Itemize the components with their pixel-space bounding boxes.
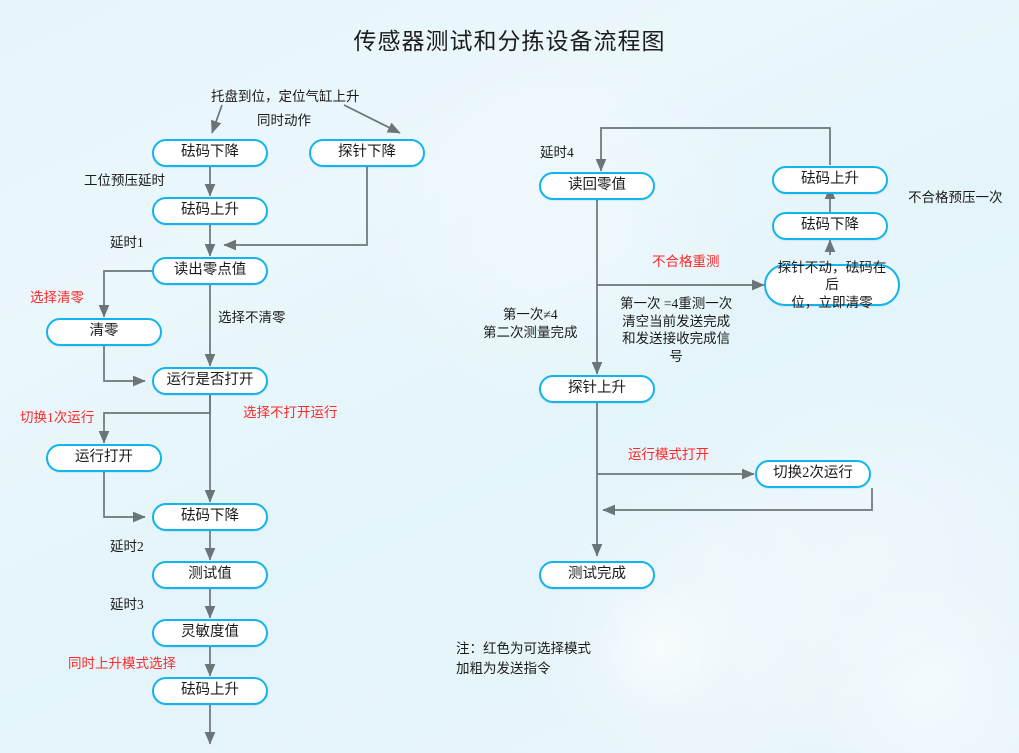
node-weight-down-3[interactable]: 砝码下降	[772, 212, 888, 240]
label-delay-4: 延时4	[540, 144, 574, 162]
label-delay-2: 延时2	[110, 538, 144, 556]
label-fail-preload-once: 不合格预压一次	[908, 189, 1003, 207]
node-test-complete[interactable]: 测试完成	[539, 561, 655, 589]
node-weight-up-2[interactable]: 砝码上升	[152, 677, 268, 705]
node-probe-up[interactable]: 探针上升	[539, 375, 655, 403]
node-probe-down[interactable]: 探针下降	[309, 139, 425, 167]
legend-note: 注：红色为可选择模式 加粗为发送指令	[456, 639, 591, 678]
node-test-value[interactable]: 测试值	[152, 561, 268, 589]
node-read-zero-point[interactable]: 读出零点值	[152, 257, 268, 285]
label-simultaneous: 同时动作	[257, 112, 311, 130]
node-weight-up-3[interactable]: 砝码上升	[772, 166, 888, 194]
node-weight-down-1[interactable]: 砝码下降	[152, 139, 268, 167]
label-first-neq-4: 第一次≠4 第二次测量完成	[483, 306, 578, 341]
node-switch-2-run[interactable]: 切换2次运行	[755, 460, 871, 488]
label-simultaneous-up-mode: 同时上升模式选择	[68, 655, 176, 673]
node-weight-up-1[interactable]: 砝码上升	[152, 197, 268, 225]
node-sensitivity-value[interactable]: 灵敏度值	[152, 619, 268, 647]
node-read-back-zero[interactable]: 读回零值	[539, 172, 655, 200]
label-station-preload-delay: 工位预压延时	[84, 172, 165, 190]
flowchart-canvas: 传感器测试和分拣设备流程图	[0, 0, 1019, 753]
label-run-mode-open: 运行模式打开	[628, 446, 709, 464]
label-select-clear-zero: 选择清零	[30, 289, 84, 307]
page-title: 传感器测试和分拣设备流程图	[0, 22, 1019, 56]
label-first-eq-4-retest: 第一次 =4重测一次 清空当前发送完成 和发送接收完成信 号	[620, 295, 732, 365]
node-weight-down-2[interactable]: 砝码下降	[152, 503, 268, 531]
label-switch-1-run: 切换1次运行	[20, 409, 94, 427]
label-delay-3: 延时3	[110, 596, 144, 614]
label-tray-in-place: 托盘到位，定位气缸上升	[211, 88, 360, 106]
label-delay-1: 延时1	[110, 234, 144, 252]
label-select-no-clear-zero: 选择不清零	[218, 309, 286, 327]
label-fail-retest: 不合格重测	[652, 253, 720, 271]
node-clear-zero[interactable]: 清零	[46, 318, 162, 346]
label-select-not-open-run: 选择不打开运行	[243, 404, 338, 422]
node-run-open-check[interactable]: 运行是否打开	[152, 367, 268, 395]
node-probe-hold-clear[interactable]: 探针不动，砝码在后 位，立即清零	[764, 264, 900, 306]
node-run-open[interactable]: 运行打开	[46, 444, 162, 472]
